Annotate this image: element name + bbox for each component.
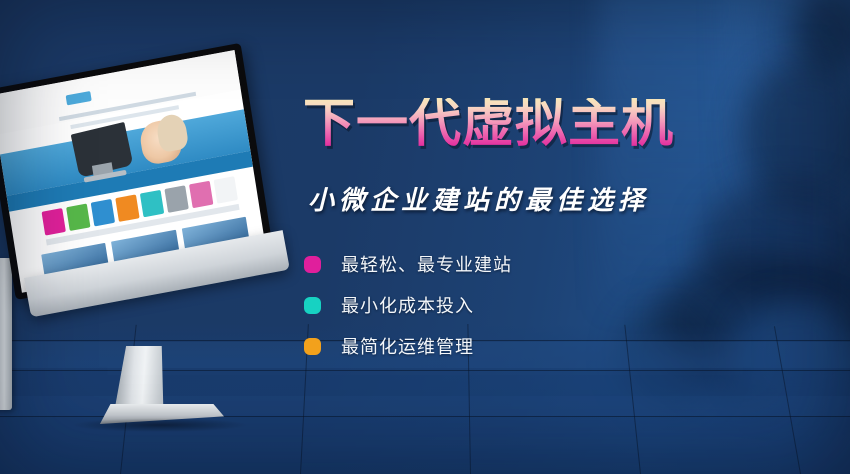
page-subtitle: 小微企业建站的最佳选择 [308, 180, 649, 217]
dot-icon [304, 297, 321, 314]
mockup-app-icon [189, 181, 213, 208]
mockup-app-icon [42, 208, 66, 235]
mockup-app-icon [140, 190, 164, 217]
imac-shadow [72, 418, 248, 432]
imac-illustration [8, 78, 308, 418]
mockup-app-icon [66, 203, 90, 230]
mockup-app-icon [214, 176, 238, 203]
feature-label: 最简化运维管理 [341, 333, 474, 359]
feature-item: 最轻松、最专业建站 [304, 246, 604, 282]
feature-list: 最轻松、最专业建站 最小化成本投入 最简化运维管理 [304, 246, 604, 369]
mockup-app-icon [116, 194, 140, 221]
imac-stand-neck [112, 346, 171, 414]
dot-icon [304, 338, 321, 355]
mockup-app-icon [91, 199, 115, 226]
hosting-promo-banner: 下一代虚拟主机 小微企业建站的最佳选择 最轻松、最专业建站 最小化成本投入 最简… [0, 0, 850, 474]
feature-item: 最简化运维管理 [304, 328, 604, 364]
dot-icon [304, 256, 321, 273]
page-title: 下一代虚拟主机 [303, 98, 674, 150]
mockup-app-icon [165, 185, 189, 212]
feature-label: 最小化成本投入 [341, 292, 474, 318]
feature-label: 最轻松、最专业建站 [341, 251, 512, 277]
feature-item: 最小化成本投入 [304, 287, 604, 323]
